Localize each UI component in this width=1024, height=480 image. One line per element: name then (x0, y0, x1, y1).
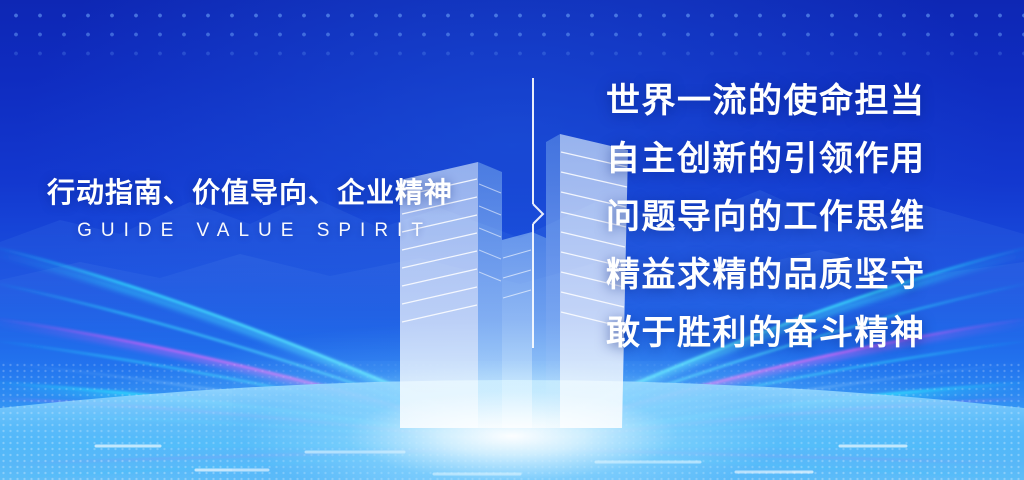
vertical-divider (527, 78, 553, 348)
dot-grid-pattern (0, 0, 1024, 72)
right-text-block: 世界一流的使命担当 自主创新的引领作用 问题导向的工作思维 精益求精的品质坚守 … (606, 72, 1006, 362)
culture-banner: 行动指南、价值导向、企业精神 GUIDE VALUE SPIRIT 世界一流的使… (0, 0, 1024, 480)
chevron-right-icon (533, 204, 543, 224)
slogan-line-4: 精益求精的品质坚守 (606, 246, 1006, 304)
slogan-line-2: 自主创新的引领作用 (606, 130, 1006, 188)
left-text-block: 行动指南、价值导向、企业精神 GUIDE VALUE SPIRIT (0, 175, 500, 242)
slogan-line-1: 世界一流的使命担当 (606, 72, 1006, 130)
left-headline: 行动指南、价值导向、企业精神 (0, 175, 500, 210)
slogan-line-5: 敢于胜利的奋斗精神 (606, 304, 1006, 362)
ground-dot-texture (0, 362, 1024, 480)
left-subtitle: GUIDE VALUE SPIRIT (0, 220, 500, 242)
slogan-line-3: 问题导向的工作思维 (606, 188, 1006, 246)
